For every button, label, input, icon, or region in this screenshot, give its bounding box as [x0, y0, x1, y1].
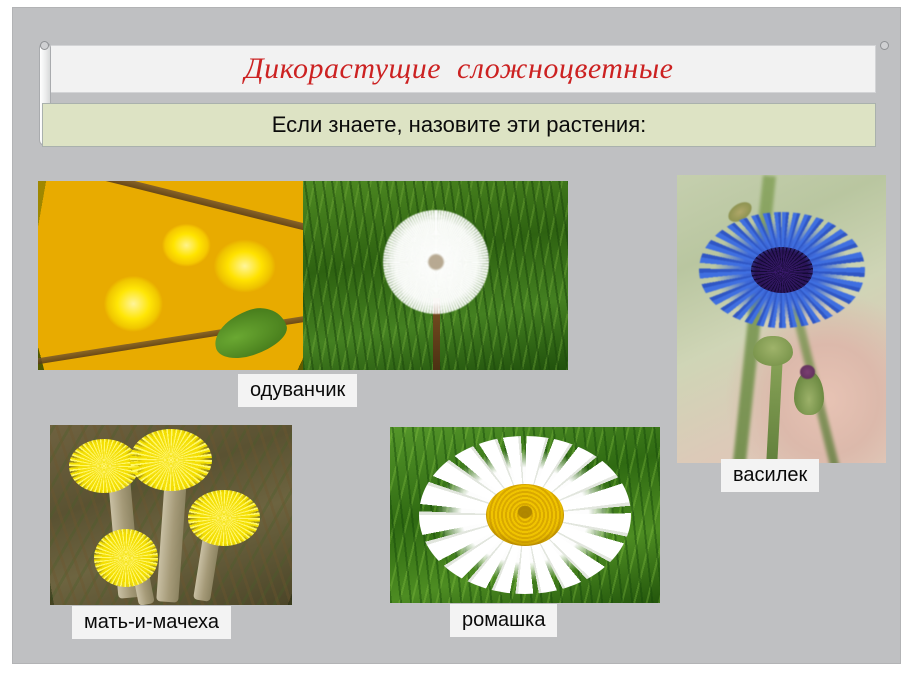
subtitle-text: Если знаете, назовите эти растения: — [272, 112, 647, 138]
coltsfoot-bloom — [94, 529, 158, 587]
title-placeholder[interactable]: Дикорастущие сложноцветные — [42, 45, 876, 93]
coltsfoot-bloom — [188, 490, 260, 546]
photo-dandelion-flowers[interactable] — [38, 181, 303, 370]
photo-coltsfoot[interactable] — [50, 425, 292, 605]
photo-cornflower[interactable] — [677, 175, 886, 463]
slide-canvas: Дикорастущие сложноцветные Если знаете, … — [13, 8, 900, 663]
subtitle-placeholder[interactable]: Если знаете, назовите эти растения: — [42, 103, 876, 147]
coltsfoot-bloom — [130, 429, 212, 491]
resize-handle-top-left[interactable] — [40, 41, 49, 50]
seedhead-puff — [383, 210, 489, 314]
label-coltsfoot[interactable]: мать-и-мачеха — [72, 606, 231, 639]
label-dandelion[interactable]: одуванчик — [238, 374, 357, 407]
cornflower-stem — [766, 359, 782, 463]
daisy-disc-centre — [486, 484, 564, 546]
label-daisy[interactable]: ромашка — [450, 604, 557, 637]
page-title: Дикорастущие сложноцветные — [245, 54, 674, 84]
photo-daisy[interactable] — [390, 427, 660, 603]
photo-dandelion-seedhead[interactable] — [303, 181, 568, 370]
label-cornflower[interactable]: василек — [721, 459, 819, 492]
cornflower-bloom-core — [751, 247, 813, 293]
resize-handle-top-right[interactable] — [880, 41, 889, 50]
cornflower-calyx — [753, 336, 793, 366]
